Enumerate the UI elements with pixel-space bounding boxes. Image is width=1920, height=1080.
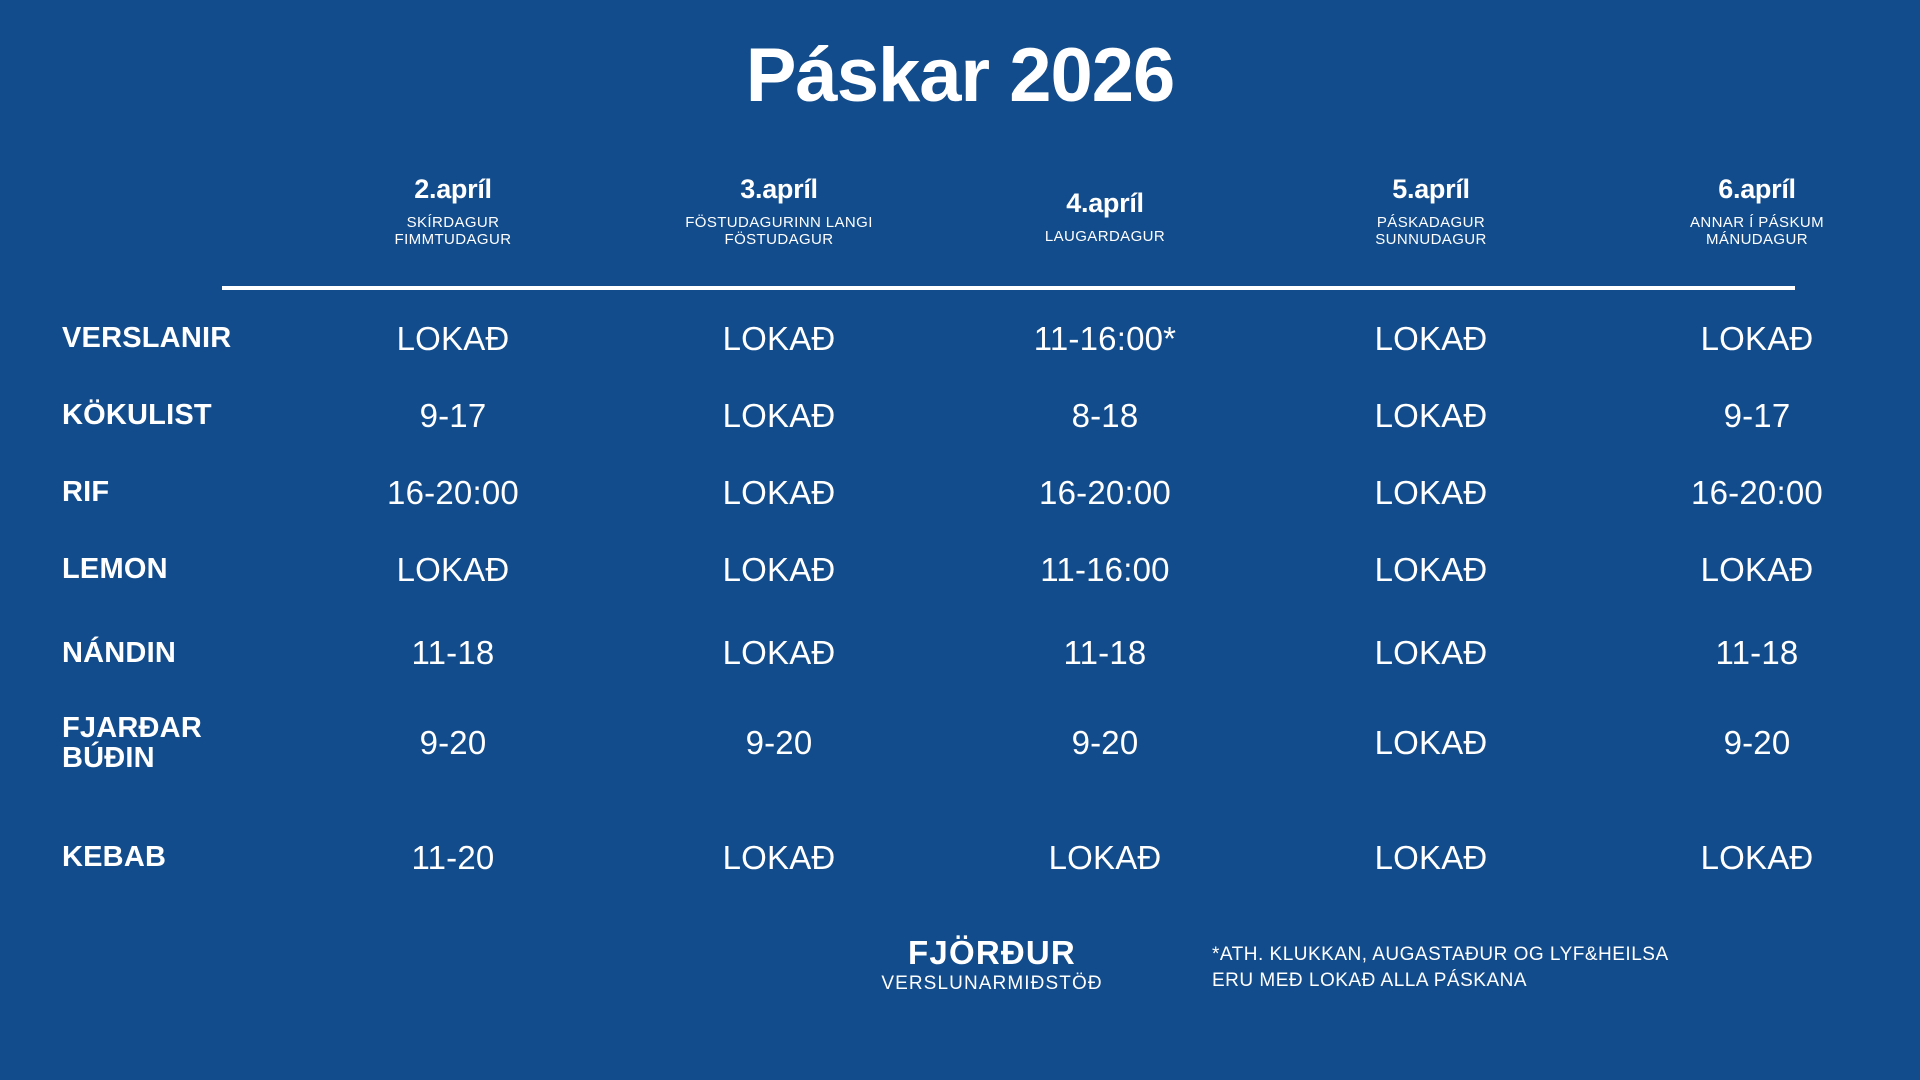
table-cell: 11-18 [1594,634,1920,672]
easter-opening-hours-poster: Páskar 2026 2.apríl SKÍRDAGUR FIMMTUDAGU… [0,0,1920,1080]
header-divider [222,286,1795,290]
table-cell: LOKAÐ [616,634,942,672]
column-header-date: 3.apríl [616,175,942,205]
table-cell: LOKAÐ [616,320,942,358]
table-cell: 16-20:00 [1594,474,1920,512]
table-cell: LOKAÐ [616,397,942,435]
table-cell: LOKAÐ [1594,551,1920,589]
brand-logo: FJÖRÐUR VERSLUNARMIÐSTÖÐ [862,936,1122,995]
table-cell: LOKAÐ [290,320,616,358]
column-header-subtitle: ANNAR Í PÁSKUM MÁNUDAGUR [1594,214,1920,249]
table-cell: 11-16:00* [942,320,1268,358]
table-row: KÖKULIST 9-17 LOKAÐ 8-18 LOKAÐ 9-17 [0,377,1920,454]
row-label: FJARÐAR BÚÐIN [0,713,290,774]
table-row: KEBAB 11-20 LOKAÐ LOKAÐ LOKAÐ LOKAÐ [0,810,1920,905]
brand-name: FJÖRÐUR [862,936,1122,971]
column-header-date: 2.apríl [290,175,616,205]
column-header-date: 5.apríl [1268,175,1594,205]
table-row: NÁNDIN 11-18 LOKAÐ 11-18 LOKAÐ 11-18 [0,608,1920,698]
table-body: VERSLANIR LOKAÐ LOKAÐ 11-16:00* LOKAÐ LO… [0,300,1920,905]
table-cell: LOKAÐ [1594,320,1920,358]
table-cell: 16-20:00 [290,474,616,512]
table-cell: LOKAÐ [616,474,942,512]
table-cell: LOKAÐ [290,551,616,589]
table-cell: LOKAÐ [1594,839,1920,877]
row-label: KÖKULIST [0,400,290,430]
table-cell: 11-16:00 [942,551,1268,589]
table-cell: 9-20 [1594,724,1920,762]
footer: FJÖRÐUR VERSLUNARMIÐSTÖÐ *ATH. KLUKKAN, … [0,936,1920,1036]
table-cell: LOKAÐ [1268,397,1594,435]
table-cell: LOKAÐ [1268,551,1594,589]
table-cell: LOKAÐ [1268,320,1594,358]
column-header-day-5: 6.apríl ANNAR Í PÁSKUM MÁNUDAGUR [1594,175,1920,249]
row-label: VERSLANIR [0,323,290,353]
table-cell: 9-17 [290,397,616,435]
table-cell: 16-20:00 [942,474,1268,512]
column-header-subtitle: SKÍRDAGUR FIMMTUDAGUR [290,214,616,249]
column-header-subtitle: FÖSTUDAGURINN LANGI FÖSTUDAGUR [616,214,942,249]
brand-tagline: VERSLUNARMIÐSTÖÐ [862,973,1122,995]
footnote-text: *ATH. KLUKKAN, AUGASTAÐUR OG LYF&HEILSA … [1212,942,1669,993]
row-label: LEMON [0,554,290,584]
table-cell: LOKAÐ [942,839,1268,877]
column-header-day-1: 2.apríl SKÍRDAGUR FIMMTUDAGUR [290,175,616,249]
column-header-subtitle: PÁSKADAGUR SUNNUDAGUR [1268,214,1594,249]
row-label: NÁNDIN [0,638,290,668]
table-cell: LOKAÐ [616,551,942,589]
table-cell: 8-18 [942,397,1268,435]
table-cell: LOKAÐ [1268,724,1594,762]
table-row: RIF 16-20:00 LOKAÐ 16-20:00 LOKAÐ 16-20:… [0,454,1920,531]
table-cell: LOKAÐ [616,839,942,877]
column-header-subtitle: LAUGARDAGUR [942,228,1268,246]
row-label: KEBAB [0,842,290,872]
table-row: LEMON LOKAÐ LOKAÐ 11-16:00 LOKAÐ LOKAÐ [0,531,1920,608]
table-cell: 9-20 [616,724,942,762]
row-label: RIF [0,477,290,507]
table-cell: 9-17 [1594,397,1920,435]
table-cell: LOKAÐ [1268,474,1594,512]
page-title: Páskar 2026 [0,38,1920,114]
opening-hours-table: 2.apríl SKÍRDAGUR FIMMTUDAGUR 3.apríl FÖ… [0,175,1920,275]
table-cell: 9-20 [290,724,616,762]
table-cell: 11-18 [942,634,1268,672]
table-cell: 11-18 [290,634,616,672]
column-header-date: 4.apríl [942,189,1268,219]
table-row: VERSLANIR LOKAÐ LOKAÐ 11-16:00* LOKAÐ LO… [0,300,1920,377]
table-cell: LOKAÐ [1268,839,1594,877]
table-cell: 11-20 [290,839,616,877]
table-cell: 9-20 [942,724,1268,762]
column-header-day-3: 4.apríl LAUGARDAGUR [942,175,1268,245]
table-row: FJARÐAR BÚÐIN 9-20 9-20 9-20 LOKAÐ 9-20 [0,698,1920,788]
column-header-day-2: 3.apríl FÖSTUDAGURINN LANGI FÖSTUDAGUR [616,175,942,249]
column-header-date: 6.apríl [1594,175,1920,205]
table-header-row: 2.apríl SKÍRDAGUR FIMMTUDAGUR 3.apríl FÖ… [0,175,1920,275]
table-cell: LOKAÐ [1268,634,1594,672]
column-header-day-4: 5.apríl PÁSKADAGUR SUNNUDAGUR [1268,175,1594,249]
